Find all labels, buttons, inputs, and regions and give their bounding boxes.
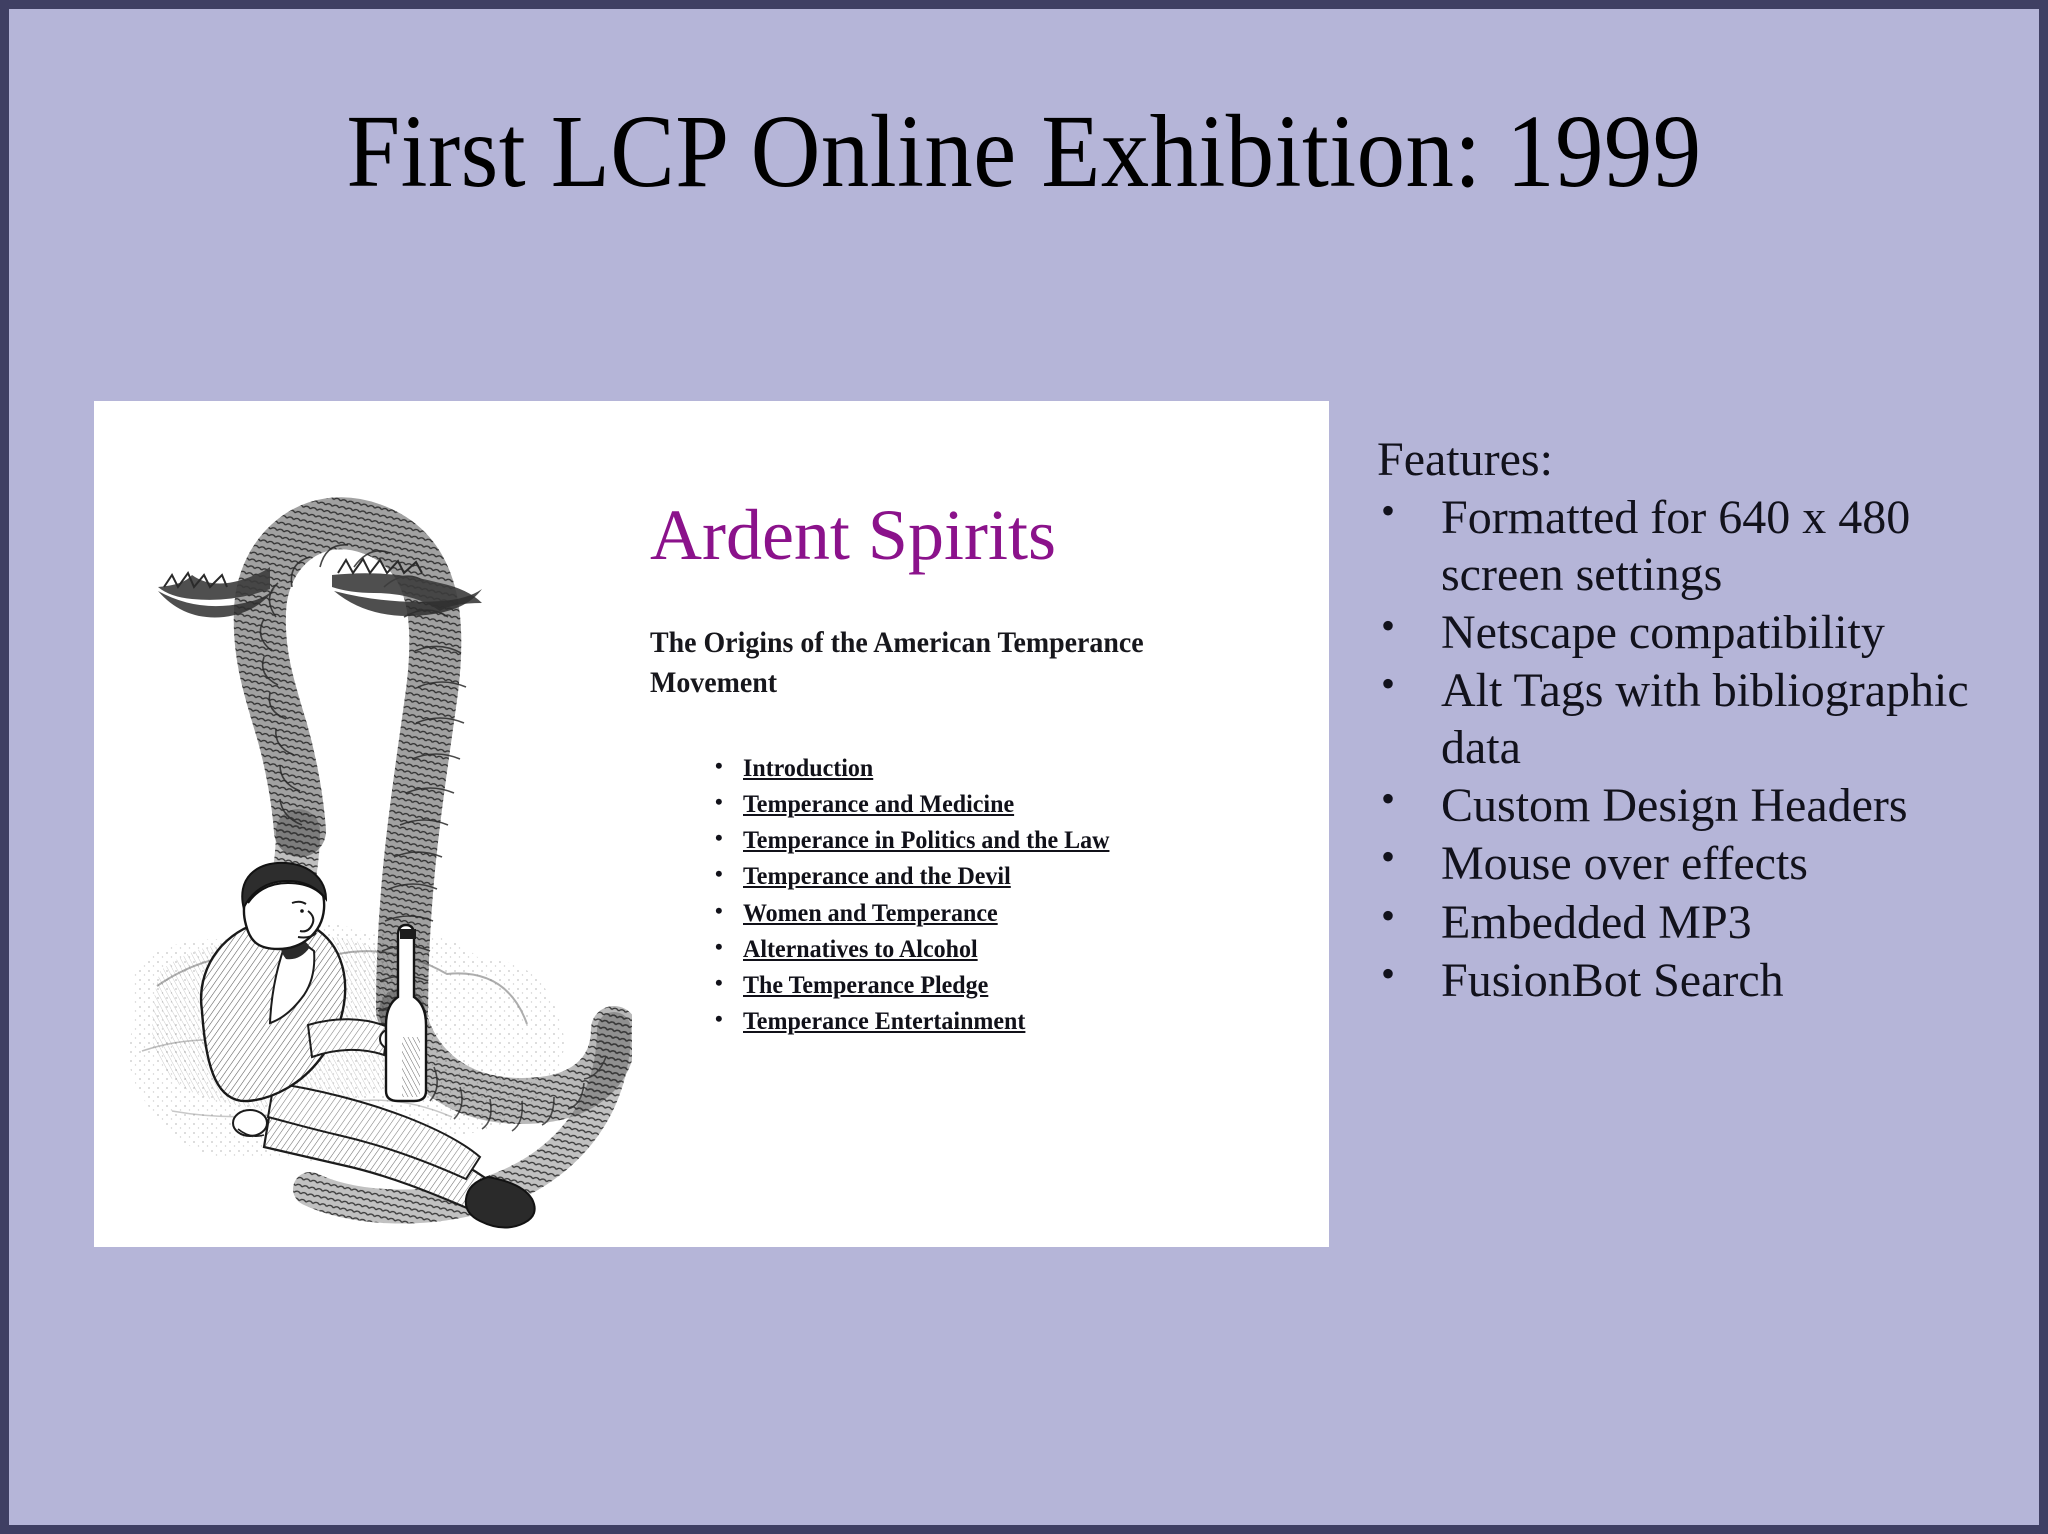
serpent-and-drunkard-engraving-icon — [102, 411, 632, 1241]
list-item: The Temperance Pledge — [743, 968, 1125, 1004]
features-panel: Features: Formatted for 640 x 480 screen… — [1377, 433, 2017, 1010]
list-item: Custom Design Headers — [1377, 777, 2017, 834]
nav-link-alternatives-to-alcohol[interactable]: Alternatives to Alcohol — [743, 932, 978, 968]
site-title: Ardent Spirits — [650, 499, 1056, 571]
list-item: Introduction — [743, 751, 1125, 787]
list-item: Alt Tags with bibliographic data — [1377, 662, 2017, 776]
list-item: Temperance and Medicine — [743, 787, 1125, 823]
list-item: Temperance in Politics and the Law — [743, 823, 1125, 859]
features-list: Formatted for 640 x 480 screen settings … — [1377, 489, 2017, 1009]
list-item: Formatted for 640 x 480 screen settings — [1377, 489, 2017, 603]
list-item: Temperance and the Devil — [743, 859, 1125, 895]
features-heading: Features: — [1377, 433, 2017, 487]
list-item: Mouse over effects — [1377, 835, 2017, 892]
list-item: Alternatives to Alcohol — [743, 932, 1125, 968]
exhibition-nav-list: Introduction Temperance and Medicine Tem… — [705, 751, 1125, 1040]
page-title: First LCP Online Exhibition: 1999 — [80, 97, 1968, 206]
nav-link-the-temperance-pledge[interactable]: The Temperance Pledge — [743, 968, 988, 1004]
nav-link-temperance-in-politics-and-the-law[interactable]: Temperance in Politics and the Law — [743, 823, 1109, 859]
embedded-screenshot: Ardent Spirits The Origins of the Americ… — [94, 401, 1329, 1247]
presentation-slide: First LCP Online Exhibition: 1999 — [0, 0, 2048, 1534]
site-subtitle: The Origins of the American Temperance M… — [650, 623, 1245, 703]
nav-link-temperance-and-medicine[interactable]: Temperance and Medicine — [743, 787, 1014, 823]
nav-link-temperance-and-the-devil[interactable]: Temperance and the Devil — [743, 859, 1011, 895]
list-item: Women and Temperance — [743, 896, 1125, 932]
list-item: Embedded MP3 — [1377, 894, 2017, 951]
nav-link-introduction[interactable]: Introduction — [743, 751, 873, 787]
list-item: Netscape compatibility — [1377, 604, 2017, 661]
nav-link-women-and-temperance[interactable]: Women and Temperance — [743, 896, 998, 932]
list-item: FusionBot Search — [1377, 952, 2017, 1009]
list-item: Temperance Entertainment — [743, 1004, 1125, 1040]
nav-link-temperance-entertainment[interactable]: Temperance Entertainment — [743, 1004, 1025, 1040]
web-page-content: Ardent Spirits The Origins of the Americ… — [650, 401, 1320, 1247]
